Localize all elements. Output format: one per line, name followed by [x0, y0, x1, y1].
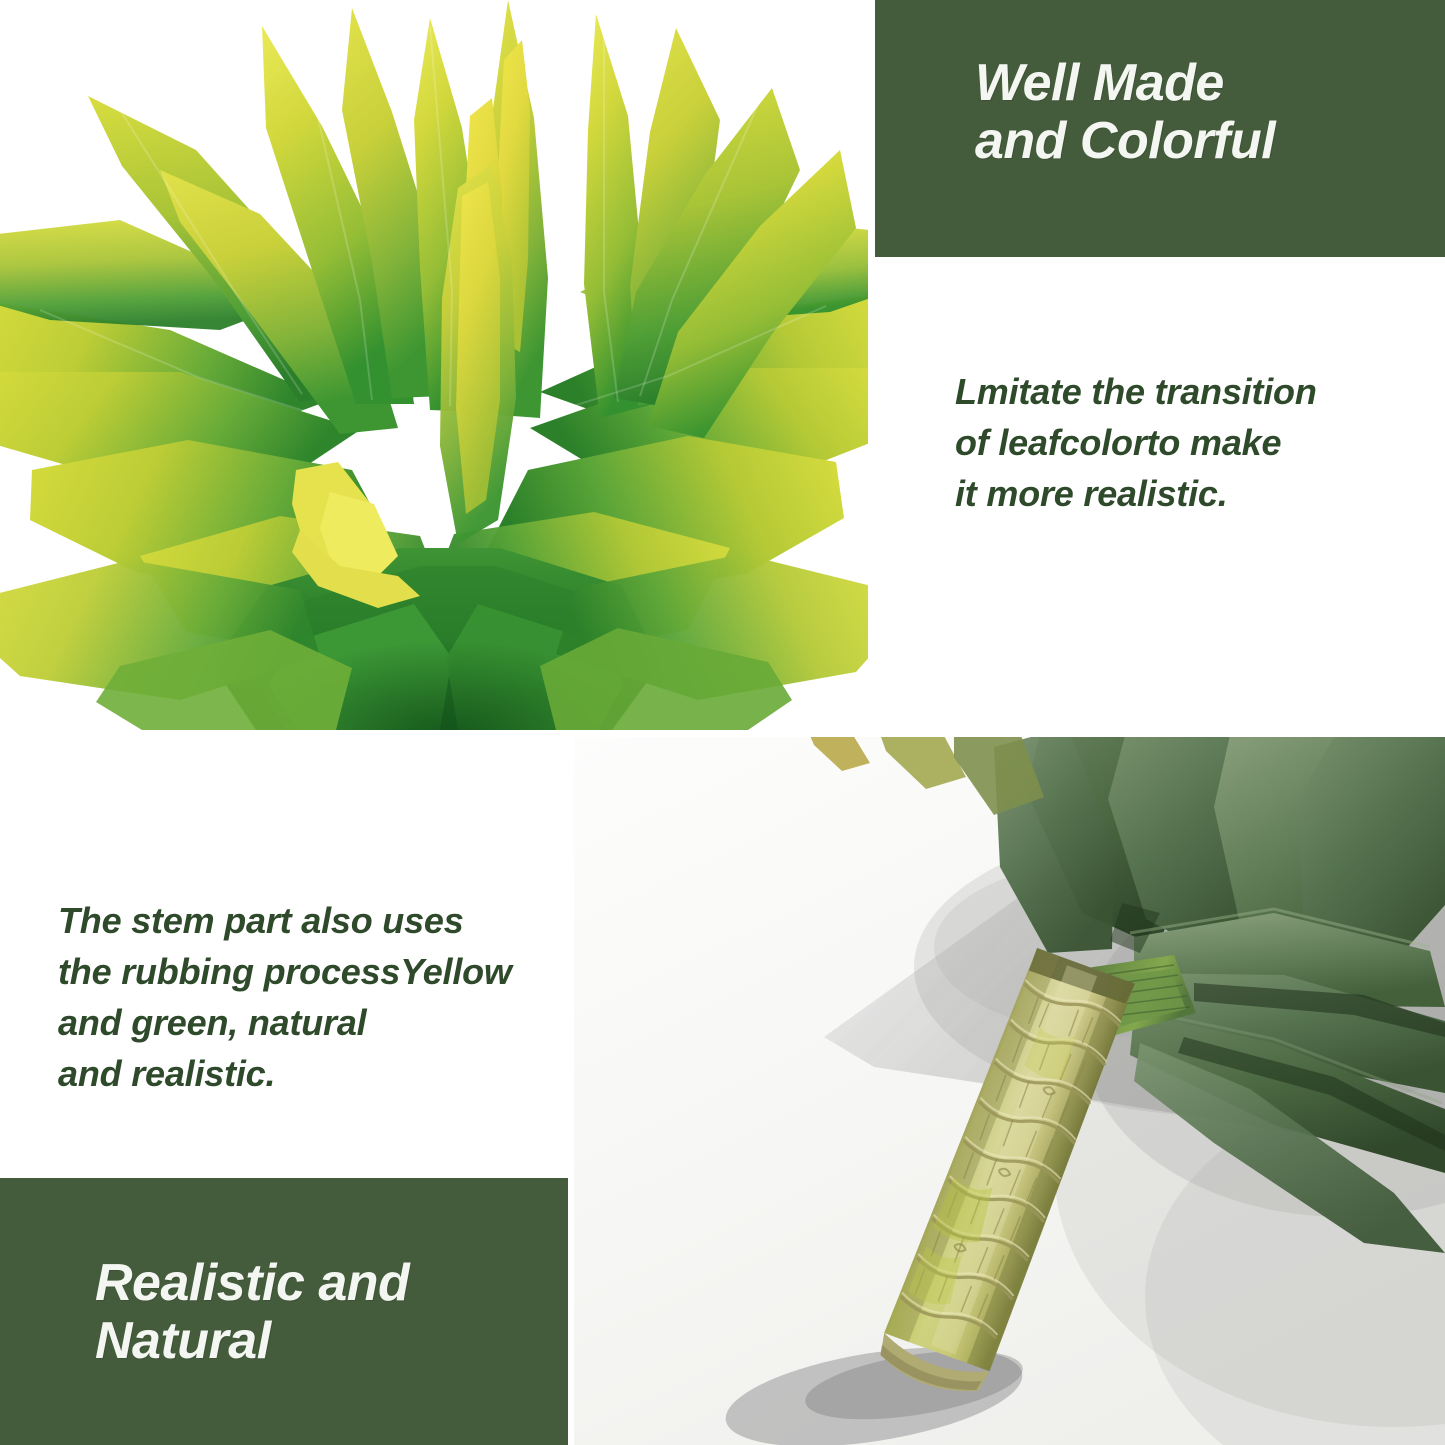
photo-agave-stem — [574, 737, 1445, 1445]
bottom-title-panel: Realistic and Natural — [0, 1178, 568, 1445]
collage-canvas: Well Made and Colorful Lmitate the trans… — [0, 0, 1445, 1445]
caption-left-text: The stem part also uses the rubbing proc… — [58, 895, 578, 1099]
bottom-title-heading: Realistic and Natural — [95, 1254, 409, 1370]
top-title-heading: Well Made and Colorful — [975, 54, 1275, 170]
photo-agave-rosette — [0, 0, 868, 730]
agave-stem-illustration — [574, 737, 1445, 1445]
agave-rosette-illustration — [0, 0, 868, 730]
top-title-panel: Well Made and Colorful — [875, 0, 1445, 257]
caption-right-text: Lmitate the transition of leafcolorto ma… — [955, 366, 1425, 519]
